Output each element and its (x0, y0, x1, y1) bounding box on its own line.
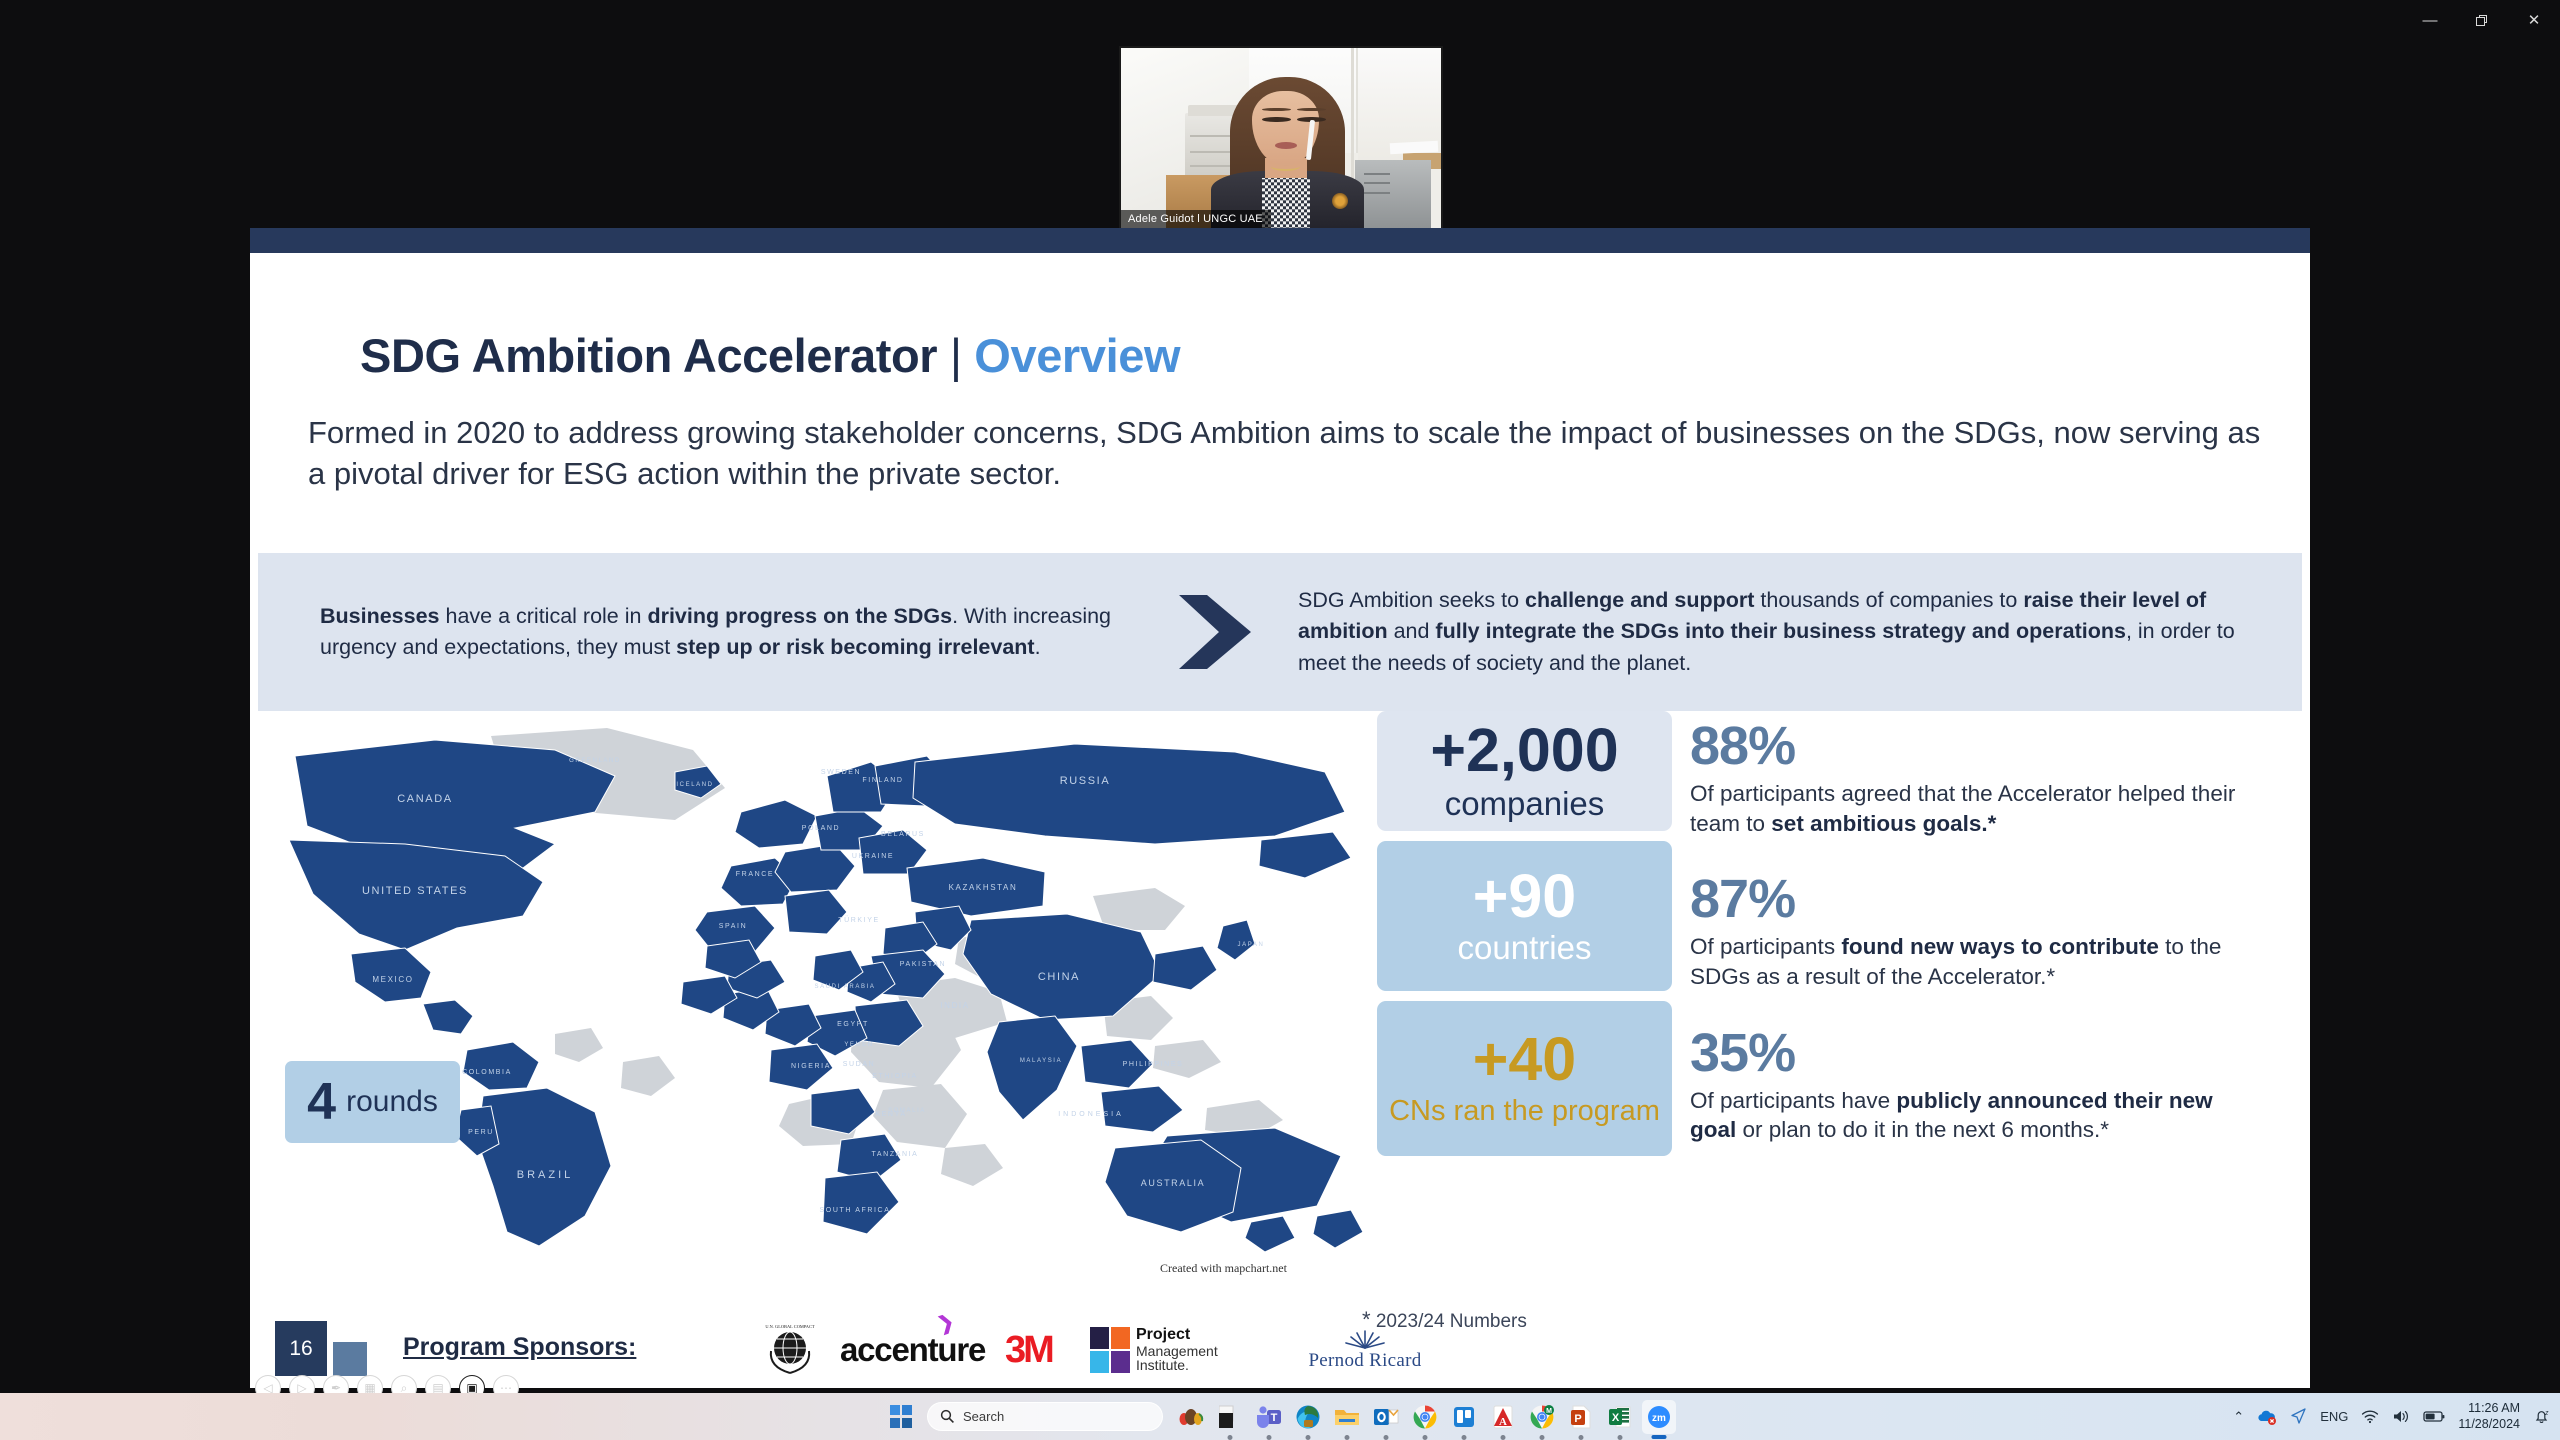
svg-text:RUSSIA: RUSSIA (1060, 775, 1111, 787)
svg-text:X: X (1612, 1412, 1620, 1424)
trello-button[interactable] (1447, 1400, 1481, 1434)
clock[interactable]: 11:26 AM 11/28/2024 (2458, 1401, 2520, 1432)
svg-text:z: z (2544, 1410, 2549, 1417)
svg-text:GREENLAND: GREENLAND (569, 758, 621, 764)
svg-text:A: A (1499, 1416, 1507, 1428)
percent-value: 87% (1690, 872, 2250, 926)
rounds-number: 4 (307, 1076, 336, 1128)
map-credit: Created with mapchart.net (1160, 1261, 1287, 1276)
minimize-button[interactable]: — (2404, 0, 2456, 40)
onedrive-icon (2257, 1409, 2277, 1425)
clock-date: 11/28/2024 (2458, 1417, 2520, 1433)
restore-button[interactable] (2456, 0, 2508, 40)
wifi-icon[interactable] (2361, 1409, 2379, 1424)
desktop: — ✕ (0, 0, 2560, 1440)
slide-title-main: SDG Ambition Accelerator (360, 329, 937, 382)
task-view-icon (1219, 1405, 1241, 1429)
send-feedback-icon[interactable] (2290, 1408, 2307, 1425)
slide-title: SDG Ambition Accelerator | Overview (360, 328, 1180, 383)
sponsors-label: Program Sponsors: (403, 1333, 636, 1362)
svg-text:PAKISTAN: PAKISTAN (900, 961, 946, 968)
cabinet (1355, 160, 1432, 229)
stat-label: CNs ran the program (1389, 1096, 1660, 1128)
accenture-wordmark: accenture (840, 1331, 985, 1369)
banner-left-text: Businesses have a critical role in drivi… (258, 601, 1138, 663)
svg-text:SOUTH AFRICA: SOUTH AFRICA (820, 1207, 891, 1214)
percent-stat-88: 88% Of participants agreed that the Acce… (1690, 719, 2250, 838)
un-global-compact-icon: U.N. GLOBAL COMPACT (761, 1321, 819, 1379)
stat-card-cns: +40 CNs ran the program (1377, 1001, 1672, 1156)
svg-text:TÜRKIYE: TÜRKIYE (838, 916, 880, 924)
search-placeholder: Search (963, 1409, 1004, 1424)
slide-intro-paragraph: Formed in 2020 to address growing stakeh… (308, 413, 2268, 495)
svg-text:M: M (1546, 1408, 1552, 1415)
svg-text:KAZAKHSTAN: KAZAKHSTAN (949, 883, 1018, 892)
stat-number: +90 (1473, 866, 1576, 927)
svg-text:INDIA: INDIA (940, 1001, 969, 1010)
window-controls: — ✕ (2404, 0, 2560, 40)
chrome-profile-button[interactable]: M (1525, 1400, 1559, 1434)
svg-text:UKRAINE: UKRAINE (852, 853, 894, 860)
teams-icon: T (1256, 1405, 1282, 1429)
logo-accenture: accenture ❯ (840, 1321, 985, 1379)
svg-text:ETHIOPIA: ETHIOPIA (872, 1073, 917, 1080)
edge-icon (1295, 1404, 1321, 1430)
pernod-ricard-sun-icon (1342, 1328, 1388, 1350)
microsoft-teams-button[interactable]: T (1252, 1400, 1286, 1434)
pmi-line1: Project (1136, 1327, 1218, 1344)
svg-text:SAUDI ARABIA: SAUDI ARABIA (815, 984, 876, 990)
taskbar-apps: Search T (884, 1393, 1676, 1440)
close-button[interactable]: ✕ (2508, 0, 2560, 40)
svg-text:T: T (1271, 1412, 1278, 1424)
svg-text:SUDAN: SUDAN (843, 1061, 876, 1068)
svg-text:P: P (1574, 1413, 1581, 1425)
speaker-glyph (2392, 1409, 2410, 1424)
svg-text:INDONESIA: INDONESIA (1058, 1111, 1124, 1118)
microsoft-edge-button[interactable] (1291, 1400, 1325, 1434)
stat-card-companies: +2,000 companies (1377, 711, 1672, 831)
3m-wordmark: 3M (1005, 1329, 1052, 1372)
stat-label: countries (1458, 930, 1592, 966)
battery-icon[interactable] (2423, 1410, 2445, 1423)
percent-description: Of participants agreed that the Accelera… (1690, 779, 2250, 838)
highlight-banner: Businesses have a critical role in drivi… (258, 553, 2302, 711)
svg-text:SPAIN: SPAIN (719, 923, 748, 930)
svg-text:FINLAND: FINLAND (862, 777, 903, 784)
svg-text:zm: zm (1652, 1413, 1666, 1424)
widgets-button[interactable] (1174, 1400, 1208, 1434)
svg-text:YEMEN: YEMEN (844, 1042, 873, 1048)
zoom-button[interactable]: zm (1642, 1400, 1676, 1434)
zoom-icon: zm (1646, 1404, 1672, 1430)
widgets-icon (1177, 1406, 1205, 1428)
powerpoint-button[interactable]: P (1564, 1400, 1598, 1434)
world-map: CANADA UNITED STATES MEXICO BRAZIL COLOM… (255, 716, 1370, 1276)
onedrive-error-icon[interactable] (2257, 1409, 2277, 1425)
chrome-icon: M (1529, 1404, 1555, 1430)
svg-text:FRANCE: FRANCE (736, 871, 774, 878)
stat-number: +2,000 (1430, 720, 1618, 781)
system-tray: ⌃ ENG (2233, 1393, 2550, 1440)
restore-icon (2476, 14, 2489, 27)
acrobat-icon: A (1491, 1404, 1515, 1430)
svg-text:ICELAND: ICELAND (676, 782, 713, 788)
pernod-ricard-wordmark: Pernod Ricard (1290, 1350, 1440, 1372)
excel-icon: X (1608, 1404, 1632, 1430)
language-indicator[interactable]: ENG (2320, 1409, 2348, 1424)
presentation-slide[interactable]: SDG Ambition Accelerator | Overview Form… (250, 228, 2310, 1388)
percent-stat-87: 87% Of participants found new ways to co… (1690, 872, 2250, 991)
slide-number-badge: 16 (275, 1321, 327, 1376)
outlook-button[interactable] (1369, 1400, 1403, 1434)
svg-text:PERU: PERU (468, 1129, 494, 1136)
stat-card-countries: +90 countries (1377, 841, 1672, 991)
decorative-square (333, 1342, 367, 1376)
show-hidden-icons-button[interactable]: ⌃ (2233, 1409, 2244, 1425)
percentage-stats: 88% Of participants agreed that the Acce… (1690, 719, 2250, 1179)
svg-text:POLAND: POLAND (802, 825, 840, 832)
svg-text:EGYPT: EGYPT (837, 1021, 869, 1028)
pmi-line2: Management (1136, 1344, 1218, 1359)
stat-number: +40 (1473, 1029, 1576, 1090)
notifications-bell-icon[interactable]: z (2533, 1408, 2550, 1425)
wifi-glyph (2361, 1409, 2379, 1424)
svg-text:CHINA: CHINA (1038, 971, 1080, 983)
svg-text:AUSTRALIA: AUSTRALIA (1141, 1178, 1205, 1188)
task-view-button[interactable] (1213, 1400, 1247, 1434)
file-explorer-button[interactable] (1330, 1400, 1364, 1434)
logo-project-management-institute: Project Management Institute. (1090, 1321, 1260, 1379)
chevron-right-icon (1138, 591, 1288, 673)
svg-text:PHILIPPINES: PHILIPPINES (1123, 1061, 1184, 1068)
google-chrome-button[interactable] (1408, 1400, 1442, 1434)
svg-text:SOMALIA: SOMALIA (888, 1108, 926, 1114)
adobe-acrobat-button[interactable]: A (1486, 1400, 1520, 1434)
rounds-label: rounds (346, 1085, 438, 1119)
svg-text:COLOMBIA: COLOMBIA (462, 1069, 512, 1076)
excel-button[interactable]: X (1603, 1400, 1637, 1434)
battery-glyph (2423, 1410, 2445, 1423)
svg-text:MALAYSIA: MALAYSIA (1020, 1058, 1062, 1064)
slide-top-accent-bar (250, 228, 2310, 253)
svg-text:BRAZIL: BRAZIL (517, 1169, 574, 1181)
chevron-right-glyph (1167, 591, 1259, 673)
logo-un-global-compact: U.N. GLOBAL COMPACT (755, 1321, 825, 1379)
percent-value: 88% (1690, 719, 2250, 773)
svg-text:MEXICO: MEXICO (372, 975, 413, 984)
powerpoint-icon: P (1569, 1404, 1593, 1430)
participant-name-label: Adele Guidot l UNGC UAE (1121, 210, 1271, 229)
rounds-stat-box: 4 rounds (285, 1061, 460, 1143)
clock-time: 11:26 AM (2458, 1401, 2520, 1417)
slide-content: CANADA UNITED STATES MEXICO BRAZIL COLOM… (250, 711, 2310, 1388)
stat-label: companies (1445, 786, 1605, 822)
windows-taskbar: Search T (0, 1393, 2560, 1440)
percent-value: 35% (1690, 1026, 2250, 1080)
chrome-icon (1412, 1404, 1438, 1430)
slide-title-accent: Overview (974, 329, 1180, 382)
trello-icon (1452, 1405, 1476, 1429)
windows-logo-icon (890, 1405, 913, 1428)
search-input[interactable]: Search (927, 1402, 1163, 1431)
world-map-svg: CANADA UNITED STATES MEXICO BRAZIL COLOM… (255, 716, 1370, 1276)
pmi-mark-icon (1090, 1327, 1130, 1373)
start-button[interactable] (884, 1400, 918, 1434)
svg-text:UNITED STATES: UNITED STATES (362, 885, 468, 897)
outlook-icon (1373, 1405, 1399, 1429)
percent-description: Of participants have publicly announced … (1690, 1086, 2250, 1145)
svg-text:TANZANIA: TANZANIA (872, 1151, 919, 1158)
volume-icon[interactable] (2392, 1409, 2410, 1424)
paper-plane-icon (2290, 1408, 2307, 1425)
svg-text:CANADA: CANADA (397, 793, 452, 805)
stat-cards: +2,000 companies +90 countries +40 CNs r… (1377, 711, 1672, 1166)
pmi-line3: Institute. (1136, 1358, 1218, 1373)
percent-stat-35: 35% Of participants have publicly announ… (1690, 1026, 2250, 1145)
percent-description: Of participants found new ways to contri… (1690, 932, 2250, 991)
svg-text:U.N. GLOBAL COMPACT: U.N. GLOBAL COMPACT (765, 1324, 815, 1329)
banner-right-text: SDG Ambition seeks to challenge and supp… (1288, 585, 2302, 679)
window-titlebar: — ✕ (0, 0, 2560, 40)
svg-text:JAPAN: JAPAN (1238, 942, 1265, 948)
svg-text:SWEDEN: SWEDEN (821, 769, 861, 776)
logo-3m: 3M (1005, 1321, 1075, 1379)
slide-title-separator: | (937, 329, 974, 382)
search-icon (940, 1409, 955, 1424)
webcam-scene (1121, 48, 1441, 229)
svg-text:NIGERIA: NIGERIA (791, 1063, 831, 1070)
svg-text:BELARUS: BELARUS (881, 831, 925, 838)
logo-pernod-ricard: Pernod Ricard (1290, 1321, 1440, 1379)
bell-glyph: z (2533, 1408, 2550, 1425)
folder-icon (1334, 1406, 1360, 1428)
webcam-video-overlay[interactable]: Adele Guidot l UNGC UAE (1119, 46, 1443, 231)
